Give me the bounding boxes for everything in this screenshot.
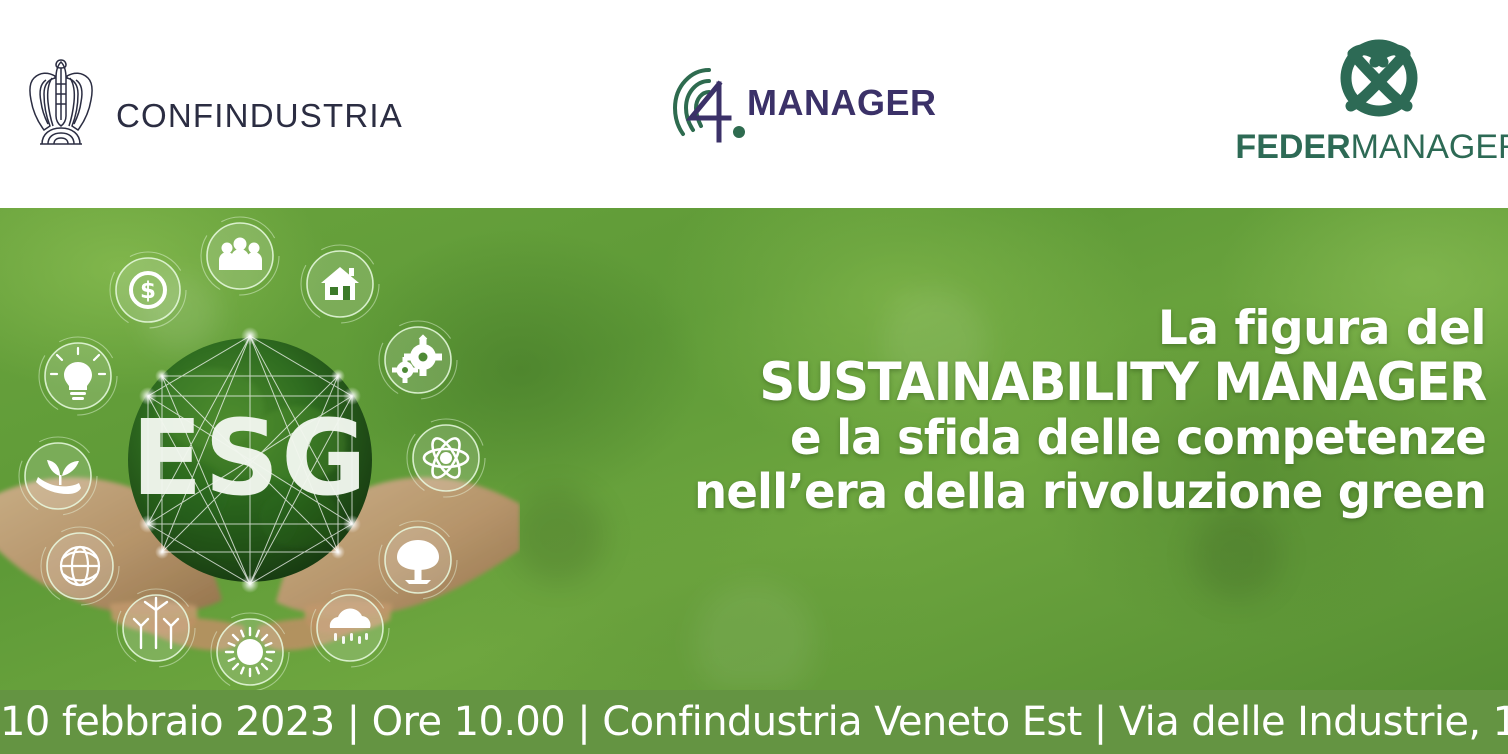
- celtic-knot-icon: [1331, 34, 1427, 126]
- federmanager-manager: MANAGER: [1351, 128, 1508, 166]
- event-banner: CONFINDUSTRIA M: [0, 0, 1508, 754]
- event-details-bar: 10 febbraio 2023 | Ore 10.00 | Confindus…: [0, 690, 1508, 754]
- signal-arcs-icon: [663, 66, 751, 144]
- headline-line-4: nell’era della rivoluzione green: [613, 466, 1486, 520]
- headline-line-2: SUSTAINABILITY MANAGER: [640, 354, 1486, 412]
- esg-artwork: ESG $: [0, 208, 520, 690]
- logo-four-manager: MANAGER: [663, 66, 963, 144]
- confindustria-wordmark: CONFINDUSTRIA: [116, 99, 403, 132]
- logo-confindustria: CONFINDUSTRIA: [22, 52, 362, 152]
- logo-bar: CONFINDUSTRIA M: [0, 0, 1508, 208]
- headline-line-1: La figura del: [586, 304, 1486, 354]
- federmanager-wordmark: FEDERMANAGER: [1235, 130, 1508, 164]
- event-details-text: 10 febbraio 2023 | Ore 10.00 | Confindus…: [0, 702, 1508, 742]
- logo-federmanager: FEDERMANAGER: [1248, 34, 1508, 174]
- event-headline: La figura del SUSTAINABILITY MANAGER e l…: [586, 304, 1486, 520]
- federmanager-feder: FEDER: [1235, 128, 1350, 166]
- four-manager-wordmark: MANAGER: [747, 85, 937, 121]
- svg-text:ESG: ESG: [131, 397, 368, 519]
- headline-line-3: e la sfida delle competenze: [613, 412, 1486, 466]
- hero-band: ESG $: [0, 208, 1508, 690]
- eagle-emblem-icon: [22, 54, 100, 150]
- svg-text:$: $: [140, 278, 156, 304]
